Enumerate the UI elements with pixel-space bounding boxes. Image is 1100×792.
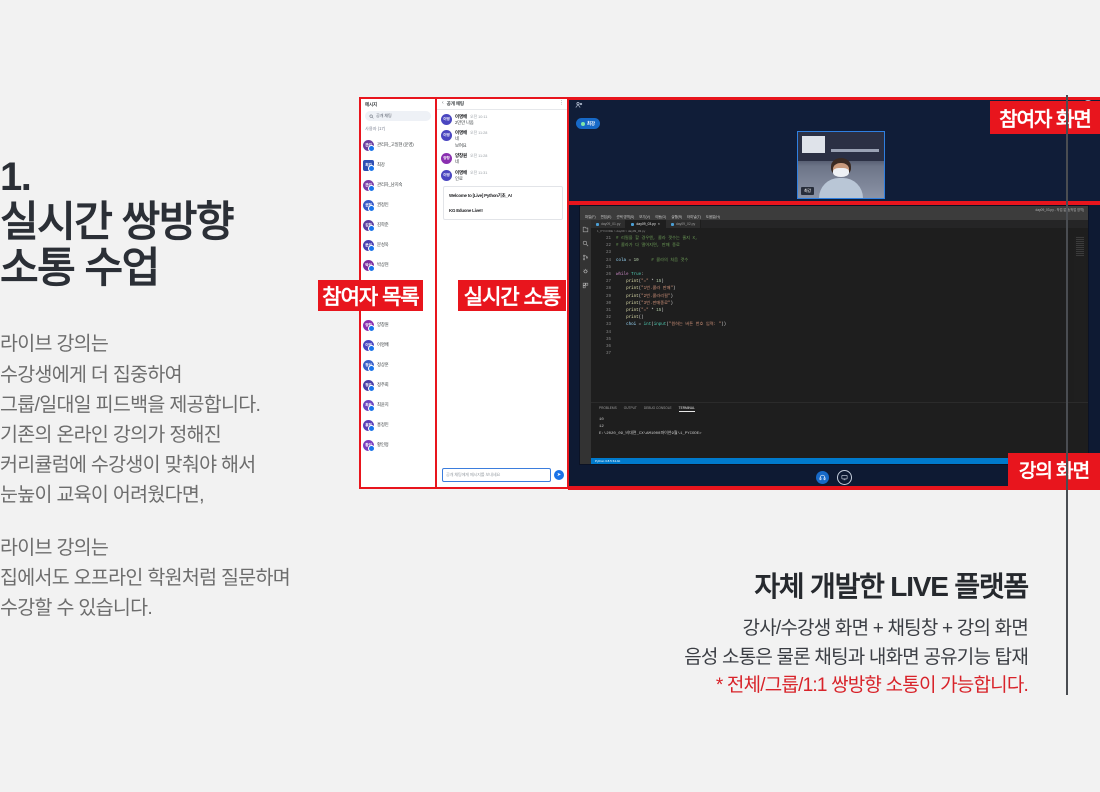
- code-text: print("1번.콜라 판매"): [616, 286, 676, 293]
- camera-whiteboard: [802, 136, 824, 153]
- right-copy-block: 자체 개발한 LIVE 플랫폼 강사/수강생 화면 + 채팅창 + 강의 화면 …: [408, 565, 1028, 701]
- avatar: 최강: [363, 160, 374, 171]
- debug-icon[interactable]: [582, 268, 589, 275]
- status-left: Python 3.8.5 64-bit: [595, 459, 620, 463]
- code-line: 27 print("=" * 15): [591, 279, 1088, 286]
- files-icon[interactable]: [582, 226, 589, 233]
- left-body-copy: 라이브 강의는 수강생에게 더 집중하여 그룹/일대일 피드백을 제공합니다. …: [0, 329, 360, 623]
- chat-message: 양창양창원오전 11:28네: [441, 153, 565, 165]
- mic-icon: [581, 122, 585, 126]
- platform-note: * 전체/그룹/1:1 쌍방향 소통이 가능합니다.: [408, 672, 1028, 701]
- member-row[interactable]: 홍정홍정민: [363, 415, 433, 435]
- line-number: 34: [591, 330, 616, 337]
- line-number: 36: [591, 344, 616, 351]
- member-name: 권정인: [377, 202, 389, 208]
- chat-timestamp: 오전 11:31: [470, 171, 487, 176]
- code-line: 24cola = 10 # 콜라의 처음 갯수: [591, 258, 1088, 265]
- presence-icon: [368, 385, 375, 392]
- system-message-box: Welcome to [Live] Python기초_A!KG Eduone L…: [443, 186, 563, 220]
- terminal-output[interactable]: 1012E:\2020_09_비대면_CX\AM1000파이썬9월\1_PYCO…: [591, 414, 1088, 441]
- member-name: 김학준: [377, 222, 389, 228]
- code-line: 23: [591, 250, 1088, 257]
- body-line: 집에서도 오프라인 학원처럼 질문하며: [0, 563, 360, 593]
- line-number: 30: [591, 301, 616, 308]
- body-line: 커리큘럼에 수강생이 맞춰야 해서: [0, 450, 360, 480]
- code-line: 22# 콜라가 다 떨어지면, 판매 종료: [591, 243, 1088, 250]
- line-number: 35: [591, 337, 616, 344]
- code-line: 31 print("=" * 15): [591, 308, 1088, 315]
- tag-lecture-screen: 강의 화면: [1008, 453, 1100, 486]
- line-number: 24: [591, 258, 616, 265]
- participant-camera-tile[interactable]: 최강: [797, 131, 885, 199]
- presence-icon: [368, 225, 375, 232]
- search-icon[interactable]: [582, 240, 589, 247]
- terminal-line: 12: [599, 424, 1080, 431]
- chat-timestamp: 오전 11:28: [470, 131, 487, 136]
- minimap[interactable]: [1074, 236, 1086, 402]
- line-number: 27: [591, 279, 616, 286]
- chat-message-body: 양창원오전 11:28네: [455, 153, 565, 165]
- line-number: 23: [591, 250, 616, 257]
- paragraph-gap: [0, 511, 360, 533]
- tag-members-list: 참여자 목록: [318, 280, 423, 311]
- platform-line: 음성 소통은 물론 채팅과 내화면 공유기능 탑재: [408, 644, 1028, 673]
- member-row[interactable]: 박상박상현: [363, 255, 433, 275]
- vscode-menubar[interactable]: 파일(F)편집(E)선택 영역(S)보기(V)이동(G)실행(R)터미널(T)도…: [580, 213, 1088, 220]
- avatar: 양창: [363, 320, 374, 331]
- screen-share-icon[interactable]: [837, 470, 852, 485]
- menu-item[interactable]: 파일(F): [585, 214, 596, 219]
- presence-icon: [368, 265, 375, 272]
- chat-header-left: ‹ 공개 채팅: [442, 101, 464, 107]
- chat-sender-name: 이명배: [455, 170, 467, 176]
- chat-header: ‹ 공개 채팅 ⋮: [437, 98, 569, 110]
- member-row[interactable]: 최강최강: [363, 155, 433, 175]
- line-number: 25: [591, 265, 616, 272]
- member-row[interactable]: 최윤최윤지: [363, 395, 433, 415]
- avatar: 정상: [363, 360, 374, 371]
- menu-item[interactable]: 편집(E): [601, 214, 612, 219]
- avatar: 박상: [363, 260, 374, 271]
- member-name: 관리자_고일현 (운영): [377, 142, 414, 148]
- code-line: 37: [591, 351, 1088, 358]
- member-name: 황인정: [377, 442, 389, 448]
- panel-tab[interactable]: OUTPUT: [624, 406, 637, 412]
- member-row[interactable]: 관리관리자_고일현 (운영): [363, 135, 433, 155]
- presence-icon: [368, 205, 375, 212]
- presence-icon: [368, 185, 375, 192]
- tag-live-chat: 실시간 소통: [458, 280, 566, 311]
- stage-top-rule: [568, 97, 1100, 100]
- member-name: 정상훈: [377, 362, 389, 368]
- member-name: 관리자_남지숙: [377, 182, 402, 188]
- menu-item[interactable]: 선택 영역(S): [616, 214, 634, 219]
- line-number: 29: [591, 294, 616, 301]
- code-line: 26while True:: [591, 272, 1088, 279]
- member-row[interactable]: 양창양창원: [363, 315, 433, 335]
- headset-icon[interactable]: [816, 471, 829, 484]
- code-text: print("=" * 15): [616, 279, 664, 286]
- chat-input-placeholder: 공개 채팅에게 메시지를 보내세요: [446, 472, 500, 478]
- body-line: 수강할 수 있습니다.: [0, 593, 360, 623]
- chevron-left-icon[interactable]: ‹: [442, 101, 444, 106]
- code-line: 32 print(): [591, 315, 1088, 322]
- editor-tab-label: day09_01.py: [601, 222, 620, 226]
- search-placeholder: 공개 채팅: [376, 113, 392, 119]
- editor-tab[interactable]: day09_03.py×: [626, 220, 665, 228]
- vscode-titlebar: day09_03.py - 작업 없음(작업 영역): [580, 206, 1088, 213]
- body-line: 그룹/일대일 피드백을 제공합니다.: [0, 390, 360, 420]
- chat-input[interactable]: 공개 채팅에게 메시지를 보내세요: [442, 468, 551, 482]
- avatar: 양창: [441, 153, 452, 164]
- code-text: print("2번.콜라리필"): [616, 294, 673, 301]
- terminal-line: E:\2020_09_비대면_CX\AM1000파이썬9월\1_PYCODE>: [599, 431, 1080, 438]
- line-number: 37: [591, 351, 616, 358]
- avatar: 황인: [363, 440, 374, 451]
- source-control-icon[interactable]: [582, 254, 589, 261]
- member-name: 양창원: [377, 322, 389, 328]
- chat-message: 이명이명배오전 10:112만만 나옴: [441, 114, 565, 126]
- menu-item[interactable]: 이동(G): [655, 214, 666, 219]
- panel-tabs[interactable]: PROBLEMSOUTPUTDEBUG CONSOLETERMINAL: [591, 406, 1088, 414]
- presence-icon: [368, 145, 375, 152]
- member-row[interactable]: 정주정주회: [363, 375, 433, 395]
- code-line: 30 print("3번.판매종료"): [591, 301, 1088, 308]
- member-row[interactable]: 관리관리자_남지숙: [363, 175, 433, 195]
- member-name: 이명배: [377, 342, 389, 348]
- avatar: 이명: [363, 340, 374, 351]
- code-line: 29 print("2번.콜라리필"): [591, 294, 1088, 301]
- members-panel-title: 메시지: [360, 98, 436, 110]
- tag-participant-screen: 참여자 화면: [990, 101, 1100, 134]
- menu-item[interactable]: 터미널(T): [687, 214, 701, 219]
- presence-icon: [368, 165, 375, 172]
- presence-icon: [368, 345, 375, 352]
- member-row[interactable]: 김학김학준: [363, 215, 433, 235]
- code-text: print("=" * 15): [616, 308, 664, 315]
- presence-icon: [368, 405, 375, 412]
- platform-line: 강사/수강생 화면 + 채팅창 + 강의 화면: [408, 615, 1028, 644]
- more-vertical-icon[interactable]: ⋮: [559, 101, 564, 106]
- code-area[interactable]: 21# 리필을 할 경우엔, 콜라 갯수는 줄지 X,22# 콜라가 다 떨어지…: [591, 234, 1088, 402]
- line-number: 28: [591, 286, 616, 293]
- body-line: 눈높이 교육이 어려웠다면,: [0, 480, 360, 510]
- vertical-divider: [1066, 95, 1068, 695]
- camera-name-label: 최강: [801, 187, 814, 195]
- body-line: 기존의 온라인 강의가 정해진: [0, 420, 360, 450]
- member-name: 정주회: [377, 382, 389, 388]
- headline-line-2: 실시간 쌍방향: [0, 199, 360, 245]
- code-text: # 리필을 할 경우엔, 콜라 갯수는 줄지 X,: [616, 236, 698, 243]
- shared-vscode-window: day09_03.py - 작업 없음(작업 영역) 파일(F)편집(E)선택 …: [580, 206, 1088, 464]
- code-text: choi = int(input("원하는 버튼 번호 입력: ")): [616, 322, 726, 329]
- code-line: 25: [591, 265, 1088, 272]
- extensions-icon[interactable]: [582, 282, 589, 289]
- code-text: print(): [616, 315, 644, 322]
- member-row[interactable]: 문성문성욱: [363, 235, 433, 255]
- python-file-icon: [596, 223, 599, 226]
- chat-message-text: 네: [455, 159, 565, 165]
- code-line: 33 choi = int(input("원하는 버튼 번호 입력: ")): [591, 322, 1088, 329]
- presence-icon: [368, 445, 375, 452]
- code-text: cola = 10 # 콜라의 처음 갯수: [616, 258, 688, 265]
- chat-message-body: 이명배오전 11:31인료: [455, 170, 565, 182]
- system-message-line: KG Eduone Live!!: [449, 208, 557, 213]
- chat-message-list: 이명이명배오전 10:112만만 나옴이명이명배오전 11:28네보여요양창양창…: [437, 110, 569, 220]
- members-count: 사용자 (17): [360, 126, 436, 135]
- chat-message: 이명이명배오전 11:28네보여요: [441, 130, 565, 149]
- member-name: 문성욱: [377, 242, 389, 248]
- editor-tab[interactable]: day09_02.py: [666, 220, 701, 228]
- chat-message-body: 이명배오전 10:112만만 나옴: [455, 114, 565, 126]
- chat-title: 공개 채팅: [447, 101, 464, 107]
- avatar: 이명: [441, 170, 452, 181]
- body-line: 라이브 강의는: [0, 329, 360, 359]
- panel-tab[interactable]: PROBLEMS: [599, 406, 617, 412]
- chat-message-text: 2만만 나옴: [455, 120, 565, 126]
- code-line: 36: [591, 344, 1088, 351]
- close-icon[interactable]: ×: [658, 222, 660, 226]
- avatar: 김학: [363, 220, 374, 231]
- chat-message-text: 인료: [455, 176, 565, 182]
- chat-input-row: 공개 채팅에게 메시지를 보내세요 ➤: [437, 462, 569, 488]
- member-row[interactable]: 황인황인정: [363, 435, 433, 455]
- chat-message: 이명이명배오전 11:31인료: [441, 170, 565, 182]
- vscode-title-right: day09_03.py - 작업 없음(작업 영역): [1036, 207, 1084, 212]
- send-icon[interactable]: ➤: [554, 470, 564, 480]
- editor-tab[interactable]: day09_01.py: [591, 220, 626, 228]
- vscode-editor: day09_01.pyday09_03.py×day09_02.py 1_PYC…: [591, 220, 1088, 464]
- avatar: 권정: [363, 200, 374, 211]
- stage-panel: [Live] Python기초_A | 최강: [568, 98, 1100, 488]
- python-file-icon: [671, 223, 674, 226]
- member-row[interactable]: 정상정상훈: [363, 355, 433, 375]
- avatar: 홍정: [363, 420, 374, 431]
- line-number: 22: [591, 243, 616, 250]
- avatar: 최윤: [363, 400, 374, 411]
- line-number: 21: [591, 236, 616, 243]
- member-name: 최강: [377, 162, 385, 168]
- promo-page: 1. 실시간 쌍방향 소통 수업 라이브 강의는 수강생에게 더 집중하여 그룹…: [0, 0, 1100, 792]
- avatar: 이명: [441, 114, 452, 125]
- vscode-main: day09_01.pyday09_03.py×day09_02.py 1_PYC…: [580, 220, 1088, 464]
- headline-line-3: 소통 수업: [0, 245, 360, 291]
- menu-item[interactable]: 도움말(H): [706, 214, 720, 219]
- code-text: while True:: [616, 272, 644, 279]
- page-title: 1. 실시간 쌍방향 소통 수업: [0, 155, 360, 291]
- python-file-icon: [631, 223, 634, 226]
- vscode-activity-bar[interactable]: [580, 220, 591, 464]
- editor-tab-label: day09_02.py: [676, 222, 695, 226]
- search-icon: [369, 114, 374, 119]
- member-row[interactable]: 권정권정인: [363, 195, 433, 215]
- camera-shelf: [831, 149, 879, 152]
- code-line: 21# 리필을 할 경우엔, 콜라 갯수는 줄지 X,: [591, 236, 1088, 243]
- camera-person-mask: [833, 168, 848, 177]
- panel-tab[interactable]: DEBUG CONSOLE: [644, 406, 672, 412]
- section-number: 1.: [0, 155, 360, 199]
- code-text: print("3번.판매종료"): [616, 301, 673, 308]
- chat-message-body: 이명배오전 11:28네보여요: [455, 130, 565, 149]
- avatar: 관리: [363, 140, 374, 151]
- code-text: # 콜라가 다 떨어지면, 판매 종료: [616, 243, 680, 250]
- body-line: 수강생에게 더 집중하여: [0, 360, 360, 390]
- editor-tabs[interactable]: day09_01.pyday09_03.py×day09_02.py: [591, 220, 1088, 228]
- platform-title: 자체 개발한 LIVE 플랫폼: [408, 565, 1028, 605]
- avatar: 정주: [363, 380, 374, 391]
- left-copy-block: 1. 실시간 쌍방향 소통 수업 라이브 강의는 수강생에게 더 집중하여 그룹…: [0, 155, 360, 623]
- system-message-line: Welcome to [Live] Python기초_A!: [449, 193, 557, 199]
- stage-bottom-rule: [568, 486, 1100, 490]
- host-chip: 최강: [576, 118, 600, 129]
- stage-mid-rule: [568, 201, 1100, 205]
- terminal-line: 10: [599, 417, 1080, 424]
- presence-icon: [368, 325, 375, 332]
- avatar: 관리: [363, 180, 374, 191]
- presence-icon: [368, 365, 375, 372]
- menu-item[interactable]: 실행(R): [671, 214, 682, 219]
- line-number: 32: [591, 315, 616, 322]
- menu-item[interactable]: 보기(V): [639, 214, 650, 219]
- code-line: 28 print("1번.콜라 판매"): [591, 286, 1088, 293]
- code-line: 35: [591, 337, 1088, 344]
- panel-tab[interactable]: TERMINAL: [679, 406, 695, 412]
- presence-icon: [368, 245, 375, 252]
- line-number: 26: [591, 272, 616, 279]
- avatar: 이명: [441, 130, 452, 141]
- line-number: 33: [591, 322, 616, 329]
- line-number: 31: [591, 308, 616, 315]
- member-name: 박상현: [377, 262, 389, 268]
- member-name: 최윤지: [377, 402, 389, 408]
- avatar: 문성: [363, 240, 374, 251]
- member-name: 홍정민: [377, 422, 389, 428]
- host-chip-label: 최강: [587, 121, 595, 127]
- platform-description: 강사/수강생 화면 + 채팅창 + 강의 화면 음성 소통은 물론 채팅과 내화…: [408, 615, 1028, 701]
- search-input[interactable]: 공개 채팅: [365, 111, 431, 121]
- code-line: 34: [591, 330, 1088, 337]
- member-row[interactable]: 이명이명배: [363, 335, 433, 355]
- chat-message-text: 보여요: [455, 143, 565, 149]
- editor-tab-label: day09_03.py: [636, 222, 655, 226]
- chat-timestamp: 오전 11:28: [470, 154, 487, 159]
- body-line: 라이브 강의는: [0, 533, 360, 563]
- presence-icon: [368, 425, 375, 432]
